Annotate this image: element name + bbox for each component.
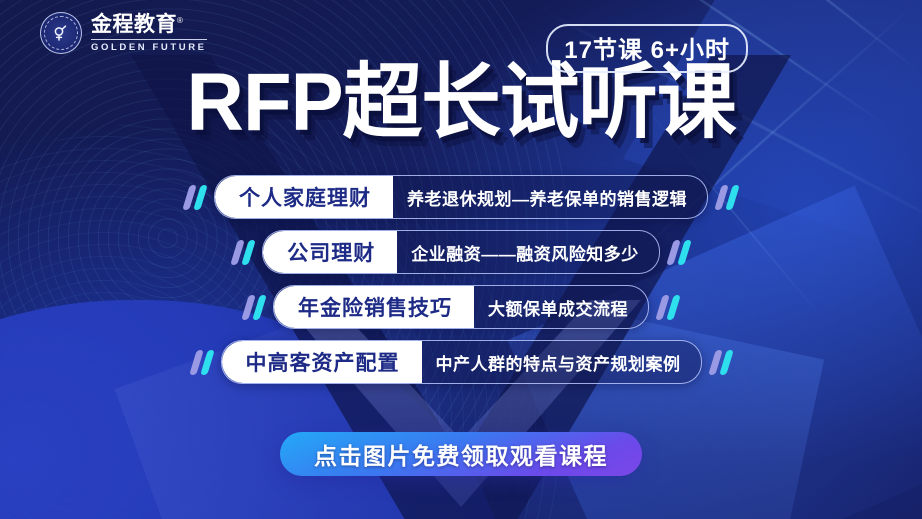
golden-future-seal-icon (40, 12, 82, 54)
course-capsule[interactable]: 公司理财 企业融资——融资风险知多少 (262, 230, 660, 274)
list-item: 个人家庭理财 养老退休规划—养老保单的销售逻辑 (0, 174, 922, 220)
course-list: 个人家庭理财 养老退休规划—养老保单的销售逻辑 公司理财 企业融资——融资风险知… (0, 174, 922, 394)
slash-marks-left-icon (245, 295, 263, 320)
course-category: 个人家庭理财 (215, 176, 393, 218)
course-category: 公司理财 (263, 231, 397, 273)
slash-marks-right-icon (670, 240, 688, 265)
course-description: 中产人群的特点与资产规划案例 (422, 341, 701, 383)
title-container: RFP超长试听课 (0, 62, 922, 144)
course-capsule[interactable]: 中高客资产配置 中产人群的特点与资产规划案例 (221, 340, 702, 384)
brand-text: 金程教育® GOLDEN FUTURE (91, 14, 207, 53)
course-description: 养老退休规划—养老保单的销售逻辑 (393, 176, 707, 218)
course-capsule[interactable]: 个人家庭理财 养老退休规划—养老保单的销售逻辑 (214, 175, 708, 219)
slash-marks-left-icon (186, 185, 204, 210)
promo-poster: 金程教育® GOLDEN FUTURE 17节课 6+小时 RFP超长试听课 个… (0, 0, 922, 519)
course-capsule[interactable]: 年金险销售技巧 大额保单成交流程 (273, 285, 649, 329)
list-item: 中高客资产配置 中产人群的特点与资产规划案例 (0, 339, 922, 385)
duration-badge: 17节课 6+小时 (546, 24, 748, 73)
list-item: 公司理财 企业融资——融资风险知多少 (0, 229, 922, 275)
list-item: 年金险销售技巧 大额保单成交流程 (0, 284, 922, 330)
page-title: RFP超长试听课 (186, 62, 735, 144)
brand-name-en: GOLDEN FUTURE (91, 39, 207, 53)
cta-button[interactable]: 点击图片免费领取观看课程 (280, 432, 642, 476)
course-category: 年金险销售技巧 (274, 286, 474, 328)
slash-marks-right-icon (712, 350, 730, 375)
slash-marks-left-icon (234, 240, 252, 265)
slash-marks-right-icon (718, 185, 736, 210)
trademark-symbol: ® (177, 16, 183, 25)
brand-name-cn: 金程教育® (91, 14, 207, 35)
course-category: 中高客资产配置 (222, 341, 422, 383)
slash-marks-left-icon (193, 350, 211, 375)
course-description: 企业融资——融资风险知多少 (397, 231, 659, 273)
brand-logo: 金程教育® GOLDEN FUTURE (40, 12, 207, 54)
course-description: 大额保单成交流程 (474, 286, 648, 328)
slash-marks-right-icon (659, 295, 677, 320)
